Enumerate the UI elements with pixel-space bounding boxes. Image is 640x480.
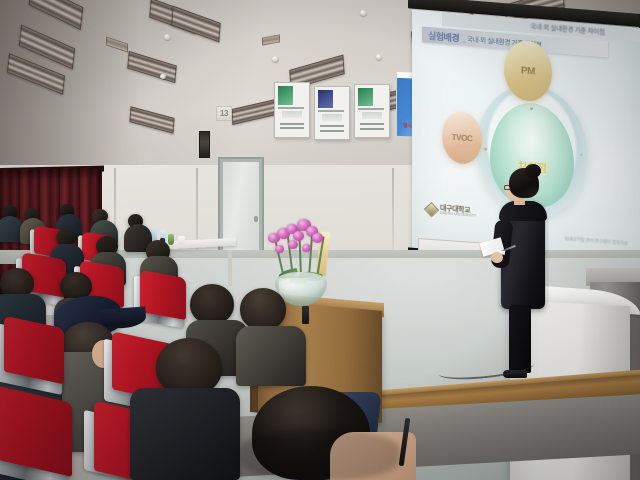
- poster-text-line: [360, 123, 385, 125]
- audience-head: [240, 288, 286, 330]
- audience-head: [190, 284, 234, 324]
- poster-text-line: [320, 125, 345, 127]
- ceiling-sensor: [376, 54, 382, 60]
- slide-footnote: 실내공기질 관리 연구센터 발표자료: [564, 236, 628, 247]
- slide-logo-subtext: DAEGU UNIVERSITY: [440, 212, 477, 219]
- poster-block: [322, 114, 342, 121]
- poster-text-line: [320, 130, 345, 132]
- diagram-bubble-tvoc-label: TVOC: [452, 132, 473, 143]
- orchid-flower: [275, 245, 284, 253]
- auditorium-seat[interactable]: [140, 270, 186, 320]
- room-number-label: 13: [220, 109, 228, 118]
- diagram-bubble-tvoc: TVOC: [442, 110, 482, 165]
- paper-cup[interactable]: [178, 236, 185, 245]
- ceiling-sensor: [360, 10, 367, 16]
- poster-rule: [318, 110, 344, 112]
- audience-torso: [130, 388, 240, 480]
- floor-shadow: [240, 430, 400, 480]
- orchid-flower: [288, 240, 298, 249]
- poster-header: [358, 88, 374, 106]
- ceiling-sensor: [164, 34, 171, 40]
- door-handle[interactable]: [254, 216, 258, 222]
- diagram-dot: [484, 147, 487, 150]
- poster-header: [318, 90, 334, 108]
- poster-text-line: [360, 128, 385, 130]
- wall-poster: [274, 82, 310, 138]
- presenter-hand: [491, 252, 503, 263]
- slide-title: 실험배경: [422, 28, 459, 44]
- side-table-leg: [228, 250, 232, 286]
- poster-header: [278, 86, 294, 104]
- poster-rule: [278, 107, 304, 109]
- orchid-flower: [312, 233, 323, 243]
- wall-poster: [354, 84, 390, 138]
- poster-text-line: [280, 127, 305, 129]
- wall-speaker-icon: [199, 131, 210, 158]
- ceiling-sensor: [160, 74, 166, 79]
- ceiling-sensor: [272, 56, 279, 62]
- poster-block: [282, 111, 302, 118]
- diagram-dot: [580, 153, 583, 156]
- remote-control[interactable]: [302, 306, 309, 324]
- orchid-flower: [302, 244, 311, 252]
- diamond-logo-icon: [424, 202, 440, 218]
- wall-poster: [314, 86, 350, 140]
- wall-seam: [392, 168, 394, 260]
- presenter-hair-bun: [525, 164, 541, 178]
- lecture-hall-photo: 13 대구 대 일시 2009. 11.: [0, 0, 640, 480]
- audience-torso: [236, 326, 306, 386]
- diagram-bubble-pm-label: PM: [521, 65, 535, 77]
- poster-block: [362, 112, 382, 119]
- presenter: [495, 168, 557, 380]
- slide-university-logo: 대구대학교 DAEGU UNIVERSITY: [426, 203, 477, 218]
- poster-rule: [358, 108, 384, 110]
- diagram-dot: [530, 107, 533, 110]
- poster-text-line: [280, 123, 305, 125]
- room-number-sign: 13: [216, 106, 232, 121]
- beverage-can[interactable]: [168, 234, 174, 245]
